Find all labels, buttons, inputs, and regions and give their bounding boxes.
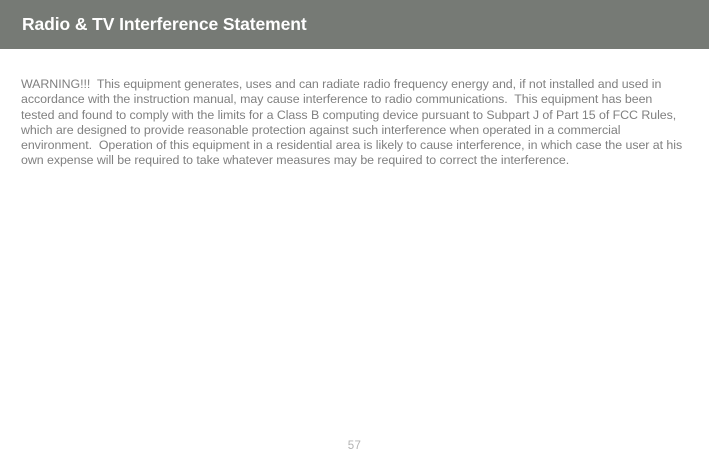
document-page: Radio & TV Interference Statement WARNIN… bbox=[0, 0, 709, 458]
section-header-bar: Radio & TV Interference Statement bbox=[0, 0, 709, 49]
page-title: Radio & TV Interference Statement bbox=[22, 16, 307, 34]
warning-paragraph: WARNING!!! This equipment generates, use… bbox=[21, 77, 689, 169]
page-number: 57 bbox=[0, 440, 709, 453]
